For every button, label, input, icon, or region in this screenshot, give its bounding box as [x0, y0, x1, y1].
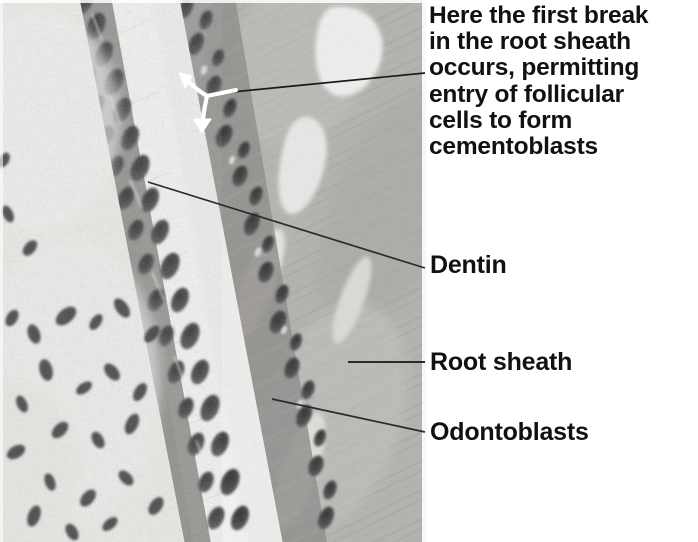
label-root-sheath: Root sheath — [430, 349, 572, 375]
caption-first-break-in-root-sheath: Here the first break in the root sheath … — [429, 3, 648, 160]
annotated-histology-figure: Here the first break in the root sheath … — [0, 0, 698, 542]
label-odontoblasts: Odontoblasts — [430, 419, 589, 445]
label-dentin: Dentin — [430, 252, 507, 278]
histology-photo — [0, 0, 426, 542]
